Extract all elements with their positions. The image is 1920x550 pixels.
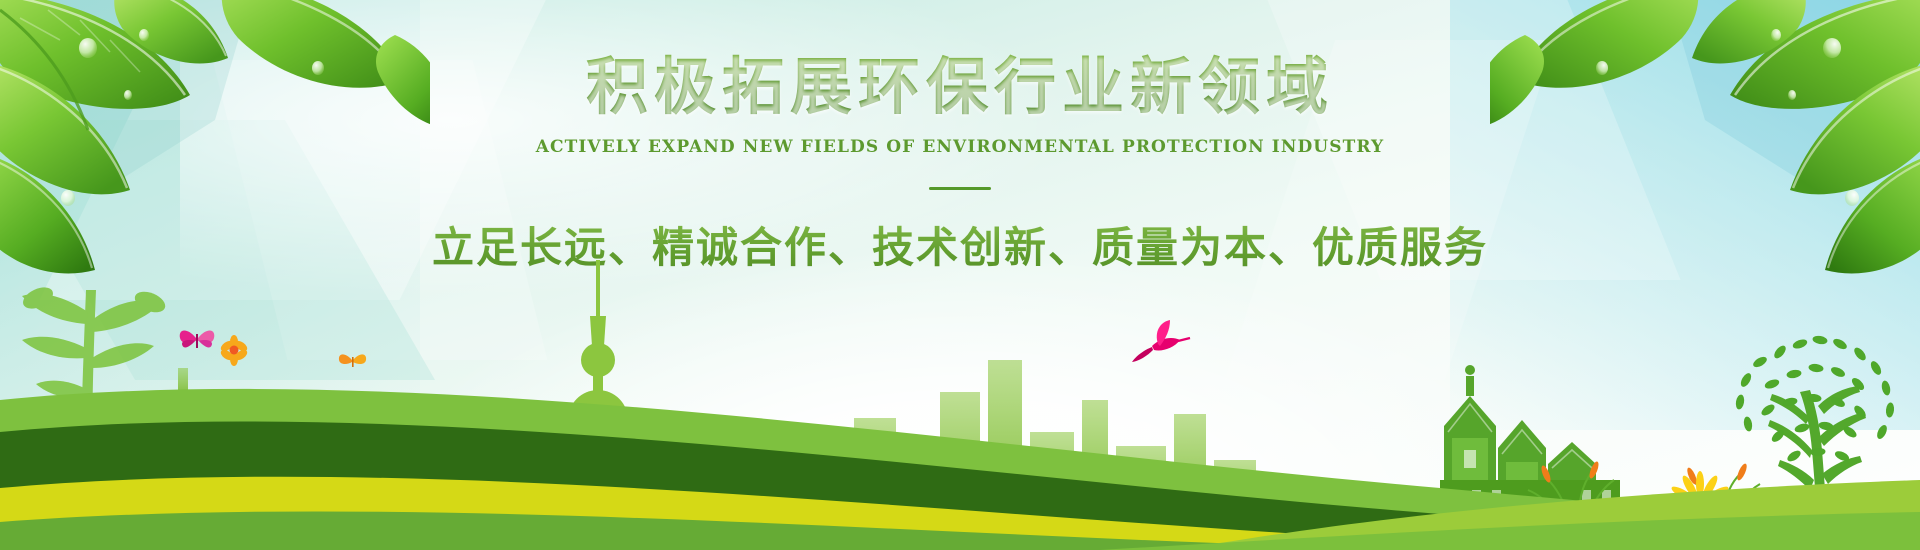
headline-block: 积极拓展环保行业新领域 ACTIVELY EXPAND NEW FIELDS O…: [0, 54, 1920, 275]
hummingbird: [1132, 320, 1190, 362]
scenery-layer: [0, 250, 1920, 550]
butterfly-pink: [180, 330, 215, 348]
flower-orange: [219, 335, 249, 366]
butterfly-orange: [339, 354, 366, 367]
environmental-banner: 积极拓展环保行业新领域 ACTIVELY EXPAND NEW FIELDS O…: [0, 0, 1920, 550]
cattail: [1685, 462, 1748, 485]
banner-title-chinese: 积极拓展环保行业新领域: [0, 54, 1920, 119]
title-divider: [929, 187, 991, 190]
banner-subtitle-english: ACTIVELY EXPAND NEW FIELDS OF ENVIRONMEN…: [0, 137, 1920, 157]
